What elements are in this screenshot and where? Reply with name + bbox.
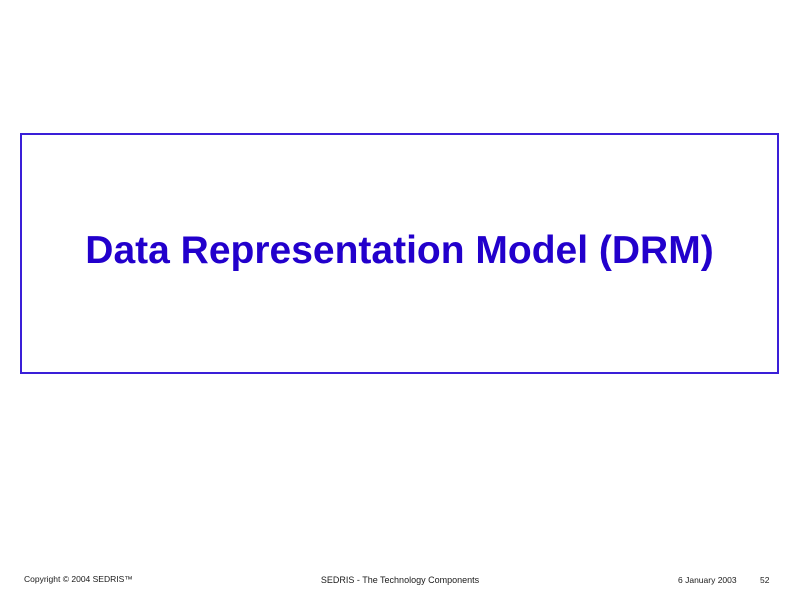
title-box: Data Representation Model (DRM) (20, 133, 779, 374)
footer-date: 6 January 2003 (678, 575, 737, 585)
slide-canvas: Data Representation Model (DRM) Copyrigh… (0, 0, 800, 600)
footer-page-number: 52 (760, 575, 769, 585)
slide-footer: Copyright © 2004 SEDRIS™ SEDRIS - The Te… (0, 572, 800, 592)
page-title: Data Representation Model (DRM) (85, 230, 713, 273)
